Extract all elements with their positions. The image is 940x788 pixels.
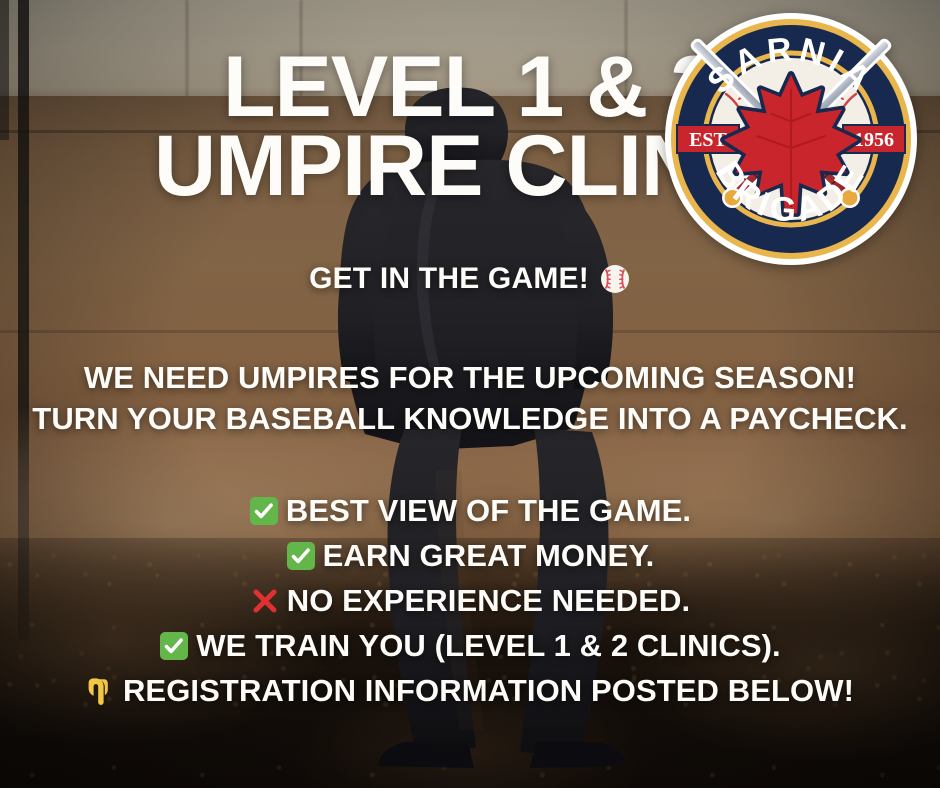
backhand-index-pointing-down-icon bbox=[86, 675, 116, 707]
baseball-icon bbox=[599, 263, 631, 295]
list-item-label: EARN GREAT MONEY. bbox=[323, 540, 655, 571]
list-item-label: NO EXPERIENCE NEEDED. bbox=[287, 585, 690, 616]
white-check-mark-icon bbox=[286, 541, 316, 571]
list-item: BEST VIEW OF THE GAME. bbox=[0, 488, 940, 533]
list-item: REGISTRATION INFORMATION POSTED BELOW! bbox=[0, 668, 940, 713]
cross-mark-icon bbox=[250, 586, 280, 616]
list-item-label: WE TRAIN YOU (LEVEL 1 & 2 CLINICS). bbox=[196, 630, 781, 661]
pitch-text: WE NEED UMPIRES FOR THE UPCOMING SEASON!… bbox=[0, 358, 940, 440]
list-item-label: BEST VIEW OF THE GAME. bbox=[286, 495, 691, 526]
pitch-line-1: WE NEED UMPIRES FOR THE UPCOMING SEASON! bbox=[0, 358, 940, 399]
list-item: NO EXPERIENCE NEEDED. bbox=[0, 578, 940, 623]
white-check-mark-icon bbox=[159, 631, 189, 661]
white-check-mark-icon bbox=[249, 496, 279, 526]
tagline-text: GET IN THE GAME! bbox=[309, 262, 589, 296]
list-item: EARN GREAT MONEY. bbox=[0, 533, 940, 578]
benefits-list: BEST VIEW OF THE GAME. EARN GREAT MONEY.… bbox=[0, 488, 940, 713]
umpire-clinic-poster: LEVEL 1 & 2 UMPIRE CLINIC GET IN THE GAM… bbox=[0, 0, 940, 788]
list-item-label: REGISTRATION INFORMATION POSTED BELOW! bbox=[123, 675, 854, 706]
pitch-line-2: TURN YOUR BASEBALL KNOWLEDGE INTO A PAYC… bbox=[0, 399, 940, 440]
sarnia-brigade-logo: EST 1956 SARNIA BRIGADE bbox=[660, 8, 922, 270]
list-item: WE TRAIN YOU (LEVEL 1 & 2 CLINICS). bbox=[0, 623, 940, 668]
